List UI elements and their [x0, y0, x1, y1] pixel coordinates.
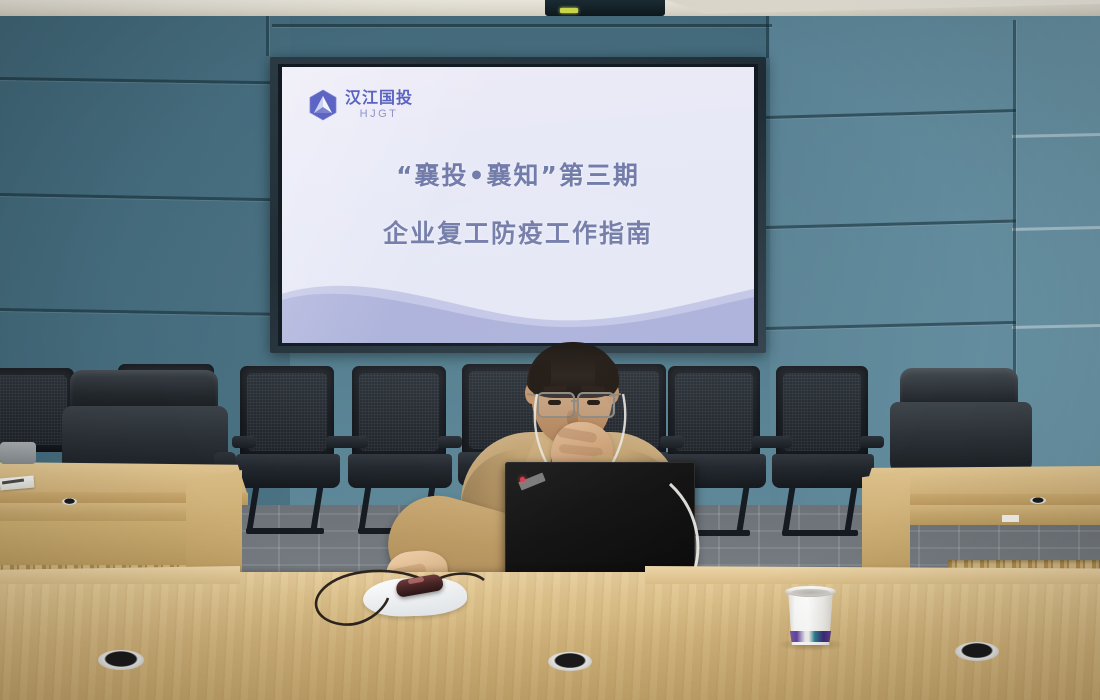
wall-seam-vertical	[266, 14, 269, 56]
hjgt-hexagon-logo-icon	[308, 89, 338, 121]
conference-room-scene: 汉江国投 HJGT “襄投•襄知”第三期 企业复工防疫工作指南	[0, 0, 1100, 700]
cable-grommet	[548, 652, 592, 671]
paper-cup-interior	[791, 589, 830, 596]
slide-logo-en: HJGT	[345, 109, 413, 120]
wall-seam-vertical	[766, 14, 769, 58]
desk-foreground-right-edge	[645, 566, 1100, 584]
slide-title-line1: “襄投•襄知”第三期	[282, 156, 754, 192]
presentation-slide: 汉江国投 HJGT “襄投•襄知”第三期 企业复工防疫工作指南	[282, 67, 754, 343]
cable-grommet	[955, 642, 999, 661]
desk-name-card	[1002, 515, 1019, 522]
slide-logo-text: 汉江国投 HJGT	[345, 90, 413, 120]
projector-led-icon	[560, 8, 578, 13]
thinkpad-red-dot-icon	[520, 477, 525, 482]
slide-title-line2: 企业复工防疫工作指南	[282, 214, 754, 250]
wall-seam	[272, 24, 772, 27]
desk-foreground-top	[0, 572, 1100, 700]
slide-logo-cn: 汉江国投	[345, 90, 413, 106]
wall-seam-vertical	[1013, 20, 1016, 375]
cable-grommet	[62, 498, 77, 505]
mouse-cable	[288, 566, 528, 636]
paper-cup-band	[789, 631, 832, 642]
slide-logo: 汉江国投 HJGT	[308, 89, 413, 121]
cable-grommet	[1030, 497, 1046, 504]
gray-device	[0, 442, 36, 464]
cable-grommet	[98, 650, 144, 670]
